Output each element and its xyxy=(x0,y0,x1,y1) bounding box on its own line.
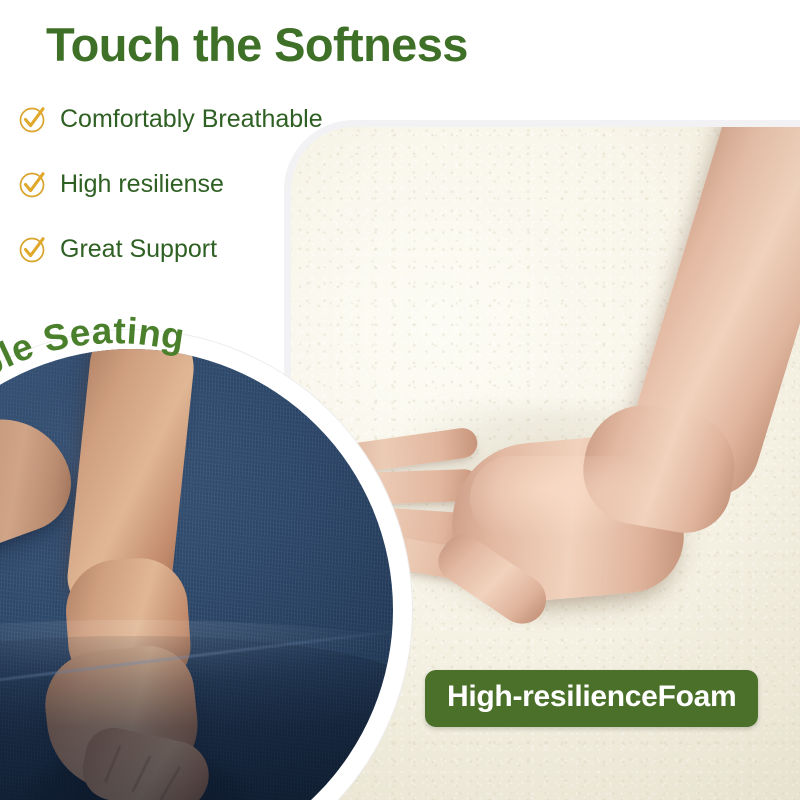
list-item-label: Great Support xyxy=(60,237,217,262)
list-item-label: Comfortably Breathable xyxy=(60,107,323,132)
list-item-label: High resiliense xyxy=(60,172,224,197)
feature-list: Comfortably Breathable High resiliense G… xyxy=(18,101,378,296)
check-circle-icon xyxy=(18,234,48,264)
check-circle-icon xyxy=(18,169,48,199)
cushion-front-face xyxy=(0,636,393,800)
page-title: Touch the Softness xyxy=(46,18,468,72)
list-item: Great Support xyxy=(18,231,378,267)
check-circle-icon xyxy=(18,104,48,134)
cushion-photo xyxy=(0,349,393,800)
status-badge: High-resilienceFoam xyxy=(425,670,758,727)
product-feature-banner: High-resilienceFoam xyxy=(0,0,800,800)
list-item: Comfortably Breathable xyxy=(18,101,378,137)
circle-inset xyxy=(0,330,412,800)
list-item: High resiliense xyxy=(18,166,378,202)
